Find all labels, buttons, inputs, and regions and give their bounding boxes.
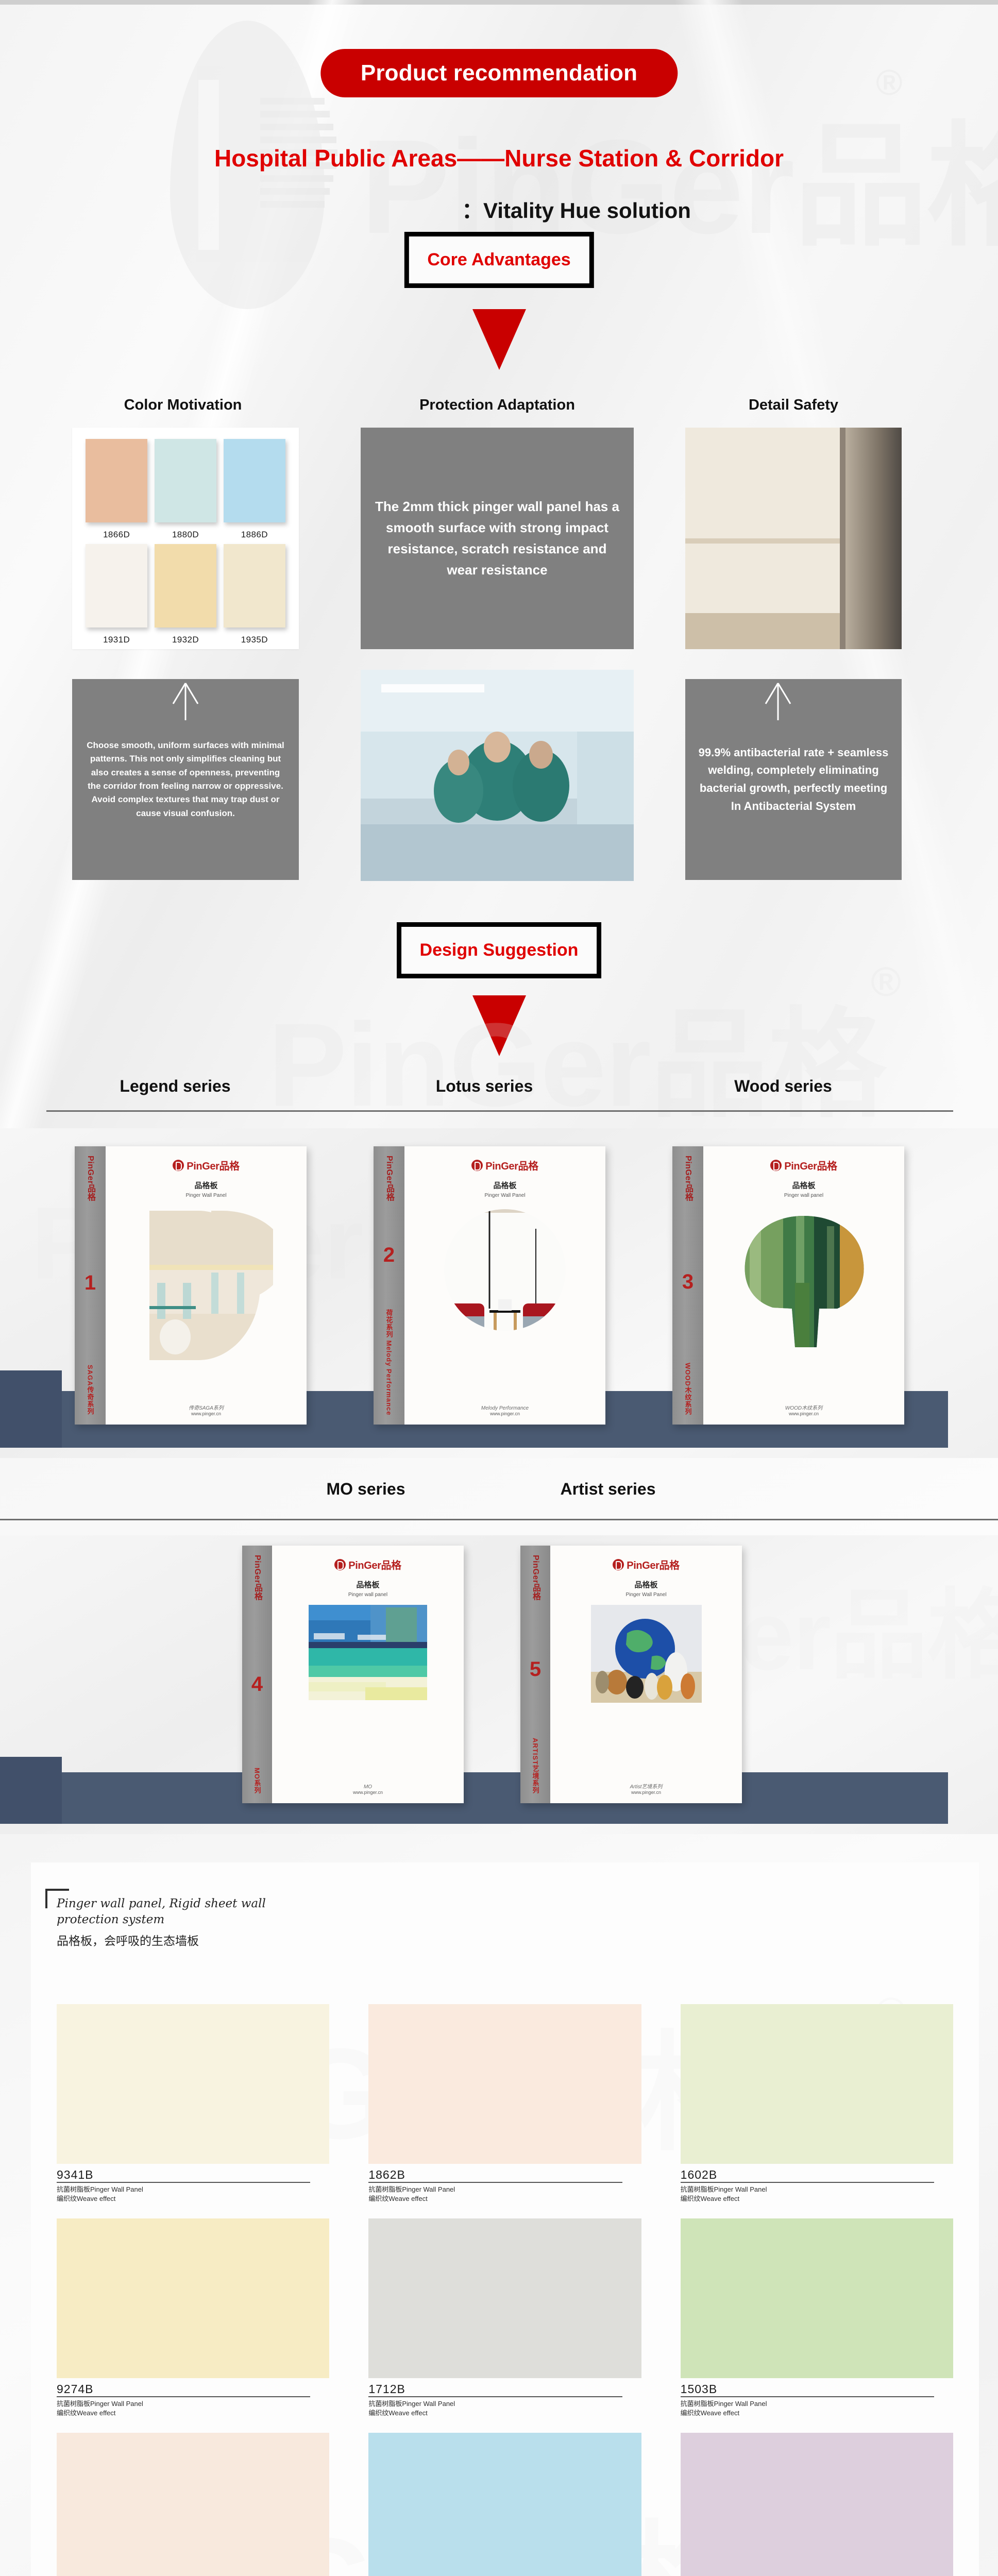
product-desc-line-2: 编织纹Weave effect — [368, 2409, 641, 2418]
spine-number: 3 — [682, 1272, 693, 1292]
spine-series-label: SAGA传奇系列 — [86, 1365, 95, 1415]
product-cell[interactable]: 1880B 抗菌树脂板Pinger Wall Panel 编织纹Weave ef… — [368, 2433, 641, 2576]
brand-name: PinGer品格 — [627, 1557, 679, 1572]
shelf-plate — [41, 1772, 948, 1824]
product-description: 抗菌树脂板Pinger Wall Panel 编织纹Weave effect — [368, 2183, 641, 2203]
spine-number: 2 — [383, 1245, 395, 1265]
page-title: Hospital Public Areas——Nurse Station & C… — [0, 144, 998, 172]
cover-footer-series: Artist艺境系列 — [550, 1782, 742, 1790]
spine-number: 4 — [251, 1674, 263, 1694]
cover-footer-url: www.pinger.cn — [404, 1411, 605, 1416]
cover-footer-url: www.pinger.cn — [272, 1790, 464, 1795]
color-swatch-item: 1866D — [86, 439, 147, 540]
spine-number: 5 — [530, 1659, 541, 1680]
swatch-code: 1866D — [86, 530, 147, 540]
arrow-up-icon — [170, 680, 201, 721]
product-swatch — [368, 2004, 641, 2164]
cover-title-cn: 品格板 — [792, 1180, 815, 1191]
product-code: 1712B — [368, 2378, 641, 2396]
swatch-chip — [86, 439, 147, 522]
product-description: 抗菌树脂板Pinger Wall Panel 编织纹Weave effect — [57, 2397, 329, 2417]
swatch-chip — [86, 544, 147, 628]
product-code: 1602B — [681, 2164, 953, 2182]
spine-number: 1 — [84, 1273, 96, 1293]
cover-footer-series: Melody Performance — [404, 1405, 605, 1411]
product-catalogue-section: PinGer品格 ® PinGer品格 Pinger wall panel, R… — [0, 1834, 998, 2576]
spine-brand-label: PinGer品格 — [84, 1156, 96, 1201]
series-heading-wood: Wood series — [680, 1077, 886, 1096]
color-swatch-grid: 1866D 1880D 1886D 1931D 1932D — [72, 428, 299, 660]
color-swatch-item: 1931D — [86, 544, 147, 645]
cover-artwork — [734, 1206, 873, 1352]
book-cover: PinGer品格 品格板 Pinger Wall Panel — [106, 1146, 307, 1425]
swatch-chip — [224, 439, 285, 522]
color-swatch-card: 1866D 1880D 1886D 1931D 1932D — [72, 428, 299, 649]
product-swatch — [57, 2004, 329, 2164]
book-spine: PinGer品格 4 MO系列 — [242, 1546, 272, 1803]
catalogue-title-cn: 品格板，会呼吸的生态墙板 — [57, 1931, 266, 1948]
cover-artwork — [139, 1206, 273, 1363]
design-suggestion-label: Design Suggestion — [420, 940, 579, 960]
spine-brand-label: PinGer品格 — [383, 1156, 395, 1201]
swatch-code: 1886D — [224, 530, 285, 540]
cover-title-cn: 品格板 — [634, 1579, 657, 1590]
product-desc-line-2: 编织纹Weave effect — [57, 2409, 329, 2418]
catalog-shelf-2: PinGer品格 PinGer品格 4 MO系列 PinGer品格 品格板 Pi… — [0, 1535, 998, 1834]
swatch-code: 1932D — [155, 635, 216, 645]
book-spine: PinGer品格 2 荷花系列 Melody Performance — [374, 1146, 404, 1425]
color-swatch-item: 1932D — [155, 544, 216, 645]
color-swatch-item: 1935D — [224, 544, 285, 645]
brand-name: PinGer品格 — [348, 1557, 401, 1572]
product-swatch — [368, 2433, 641, 2576]
series-heading-legend: Legend series — [72, 1077, 278, 1096]
product-cell[interactable]: 9274B 抗菌树脂板Pinger Wall Panel 编织纹Weave ef… — [57, 2218, 329, 2417]
swatch-chip — [224, 544, 285, 628]
brand-name: PinGer品格 — [784, 1158, 837, 1173]
pinger-logo-icon — [471, 1160, 483, 1171]
product-grid: 9341B 抗菌树脂板Pinger Wall Panel 编织纹Weave ef… — [57, 2004, 953, 2576]
product-swatch — [681, 2004, 953, 2164]
catalog-book-1[interactable]: PinGer品格 1 SAGA传奇系列 PinGer品格 品格板 Pinger … — [75, 1146, 307, 1425]
book-spine: PinGer品格 3 WOOD木纹系列 — [672, 1146, 703, 1425]
page-subtitle: ：Vitality Hue solution — [0, 193, 998, 225]
book-cover: PinGer品格 品格板 Pinger wall panel — [703, 1146, 904, 1425]
pinger-logo-icon — [334, 1559, 346, 1570]
product-recommendation-page: PinGer品格 ® Product recommendation Hospit… — [0, 0, 998, 2576]
brand-logo: PinGer品格 — [173, 1158, 239, 1173]
book-cover: PinGer品格 品格板 Pinger wall panel — [272, 1546, 464, 1803]
corner-bracket-icon — [45, 1889, 69, 1908]
product-desc-line-2: 编织纹Weave effect — [368, 2194, 641, 2204]
cover-footer: WOOD木纹系列 www.pinger.cn — [703, 1403, 904, 1416]
cover-footer-series: WOOD木纹系列 — [703, 1403, 904, 1411]
divider — [0, 1519, 998, 1520]
product-swatch — [57, 2433, 329, 2576]
product-desc-line-1: 抗菌树脂板Pinger Wall Panel — [57, 2399, 329, 2409]
protection-adaptation-text: The 2mm thick pinger wall panel has a sm… — [372, 496, 622, 581]
core-advantages-label: Core Advantages — [427, 250, 570, 269]
arrow-down-icon — [472, 309, 526, 370]
swatch-code: 1935D — [224, 635, 285, 645]
catalog-book-3[interactable]: PinGer品格 3 WOOD木纹系列 PinGer品格 品格板 Pinger … — [672, 1146, 904, 1425]
protection-adaptation-text-box: The 2mm thick pinger wall panel has a sm… — [361, 428, 634, 649]
product-cell[interactable]: 1503B 抗菌树脂板Pinger Wall Panel 编织纹Weave ef… — [681, 2218, 953, 2417]
design-suggestion-box: Design Suggestion — [397, 922, 602, 978]
product-cell[interactable]: 9677B 抗菌树脂板Pinger Wall Panel 编织纹Weave ef… — [681, 2433, 953, 2576]
product-code: 9274B — [57, 2378, 329, 2396]
product-recommendation-badge: Product recommendation — [320, 49, 678, 97]
book-spine: PinGer品格 5 ARTIST艺境系列 — [520, 1546, 550, 1803]
cover-artwork — [309, 1605, 427, 1703]
cover-footer-url: www.pinger.cn — [550, 1790, 742, 1795]
cover-footer-url: www.pinger.cn — [106, 1411, 307, 1416]
corridor-photo — [685, 428, 902, 649]
product-desc-line-2: 编织纹Weave effect — [681, 2194, 953, 2204]
product-desc-line-1: 抗菌树脂板Pinger Wall Panel — [57, 2185, 329, 2194]
product-cell[interactable]: 1602B 抗菌树脂板Pinger Wall Panel 编织纹Weave ef… — [681, 2004, 953, 2203]
cover-title-en: Pinger Wall Panel — [185, 1193, 226, 1198]
product-code: 1862B — [368, 2164, 641, 2182]
divider — [46, 1110, 953, 1112]
series-heading-row-2: MO series Artist series — [0, 1458, 998, 1535]
product-description: 抗菌树脂板Pinger Wall Panel 编织纹Weave effect — [57, 2183, 329, 2203]
cover-artwork — [441, 1206, 569, 1337]
product-cell[interactable]: 1862B 抗菌树脂板Pinger Wall Panel 编织纹Weave ef… — [368, 2004, 641, 2203]
product-swatch — [681, 2218, 953, 2378]
product-desc-line-1: 抗菌树脂板Pinger Wall Panel — [681, 2185, 953, 2194]
swatch-chip — [155, 544, 216, 628]
brand-name: PinGer品格 — [485, 1158, 538, 1173]
shelf-plate-left — [0, 1370, 62, 1448]
cover-title-cn: 品格板 — [356, 1579, 379, 1590]
cover-title-cn: 品格板 — [493, 1180, 516, 1191]
product-swatch — [368, 2218, 641, 2378]
cover-footer: Melody Performance www.pinger.cn — [404, 1405, 605, 1416]
color-swatch-item: 1880D — [155, 439, 216, 540]
cover-title-en: Pinger wall panel — [784, 1193, 823, 1198]
column-heading-protection-adaptation: Protection Adaptation — [361, 397, 634, 414]
product-desc-line-1: 抗菌树脂板Pinger Wall Panel — [368, 2399, 641, 2409]
spine-brand-label: PinGer品格 — [682, 1156, 694, 1201]
spine-brand-label: PinGer品格 — [251, 1555, 263, 1600]
book-cover: PinGer品格 品格板 Pinger Wall Panel — [550, 1546, 742, 1803]
product-desc-line-2: 编织纹Weave effect — [57, 2194, 329, 2204]
catalog-book-2[interactable]: PinGer品格 2 荷花系列 Melody Performance PinGe… — [374, 1146, 605, 1425]
arrow-down-icon — [472, 995, 526, 1056]
catalog-book-4[interactable]: PinGer品格 4 MO系列 PinGer品格 品格板 Pinger wall… — [242, 1546, 464, 1803]
cover-title-en: Pinger Wall Panel — [625, 1592, 666, 1598]
swatch-chip — [155, 439, 216, 522]
cover-footer: MO www.pinger.cn — [272, 1784, 464, 1795]
spine-series-label: MO系列 — [252, 1768, 262, 1794]
brand-logo: PinGer品格 — [613, 1557, 679, 1572]
catalog-shelf-1: PinGer品格 PinGer品格 1 SAGA传奇系列 PinGer品格 品格… — [0, 1128, 998, 1458]
brand-logo: PinGer品格 — [471, 1158, 538, 1173]
shelf-plate-left — [0, 1757, 62, 1824]
product-code: 9341B — [57, 2164, 329, 2182]
product-cell[interactable]: 1712B 抗菌树脂板Pinger Wall Panel 编织纹Weave ef… — [368, 2218, 641, 2417]
cover-footer-series: 传奇SAGA系列 — [106, 1403, 307, 1411]
color-swatch-item: 1886D — [224, 439, 285, 540]
brand-logo: PinGer品格 — [334, 1557, 401, 1572]
product-desc-line-1: 抗菌树脂板Pinger Wall Panel — [681, 2399, 953, 2409]
pinger-logo-icon — [770, 1160, 782, 1171]
cover-title-cn: 品格板 — [194, 1180, 217, 1191]
cover-footer: 传奇SAGA系列 www.pinger.cn — [106, 1403, 307, 1416]
pinger-logo-icon — [613, 1559, 624, 1570]
cover-footer-url: www.pinger.cn — [703, 1411, 904, 1416]
spine-series-label: 荷花系列 Melody Performance — [384, 1309, 394, 1416]
product-desc-line-2: 编织纹Weave effect — [681, 2409, 953, 2418]
column-heading-detail-safety: Detail Safety — [685, 397, 902, 414]
series-heading-mo: MO series — [273, 1480, 459, 1499]
cover-footer-series: MO — [272, 1784, 464, 1790]
cover-title-en: Pinger wall panel — [348, 1592, 387, 1598]
detail-safety-text-box: 99.9% antibacterial rate + seamless weld… — [685, 679, 902, 880]
catalog-book-5[interactable]: PinGer品格 5 ARTIST艺境系列 PinGer品格 品格板 Pinge… — [520, 1546, 742, 1803]
arrow-up-icon — [763, 680, 793, 721]
product-swatch — [681, 2433, 953, 2576]
detail-safety-text: 99.9% antibacterial rate + seamless weld… — [697, 744, 890, 816]
book-cover: PinGer品格 品格板 Pinger Wall Panel — [404, 1146, 605, 1425]
catalogue-title-block: Pinger wall panel, Rigid sheet wall prot… — [57, 1896, 266, 1948]
spine-series-label: ARTIST艺境系列 — [531, 1738, 540, 1794]
series-heading-artist: Artist series — [505, 1480, 711, 1499]
core-advantages-box: Core Advantages — [404, 232, 594, 288]
cover-title-en: Pinger Wall Panel — [484, 1193, 525, 1198]
product-cell[interactable]: 9341B 抗菌树脂板Pinger Wall Panel 编织纹Weave ef… — [57, 2004, 329, 2203]
column-heading-color-motivation: Color Motivation — [67, 397, 299, 414]
swatch-code: 1931D — [86, 635, 147, 645]
color-motivation-text: Choose smooth, uniform surfaces with min… — [83, 739, 287, 820]
nurse-station-photo — [361, 670, 634, 881]
product-code: 1503B — [681, 2378, 953, 2396]
swatch-code: 1880D — [155, 530, 216, 540]
spine-series-label: WOOD木纹系列 — [683, 1363, 693, 1415]
product-description: 抗菌树脂板Pinger Wall Panel 编织纹Weave effect — [681, 2397, 953, 2417]
product-description: 抗菌树脂板Pinger Wall Panel 编织纹Weave effect — [368, 2397, 641, 2417]
product-description: 抗菌树脂板Pinger Wall Panel 编织纹Weave effect — [681, 2183, 953, 2203]
product-cell[interactable]: 1501B 抗菌树脂板Pinger Wall Panel 编织纹Weave ef… — [57, 2433, 329, 2576]
series-heading-lotus: Lotus series — [381, 1077, 587, 1096]
brand-name: PinGer品格 — [187, 1158, 239, 1173]
spine-brand-label: PinGer品格 — [529, 1555, 542, 1600]
cover-artwork — [591, 1605, 702, 1705]
cover-footer: Artist艺境系列 www.pinger.cn — [550, 1782, 742, 1795]
catalogue-title-en: Pinger wall panel, Rigid sheet wall prot… — [57, 1896, 266, 1928]
product-desc-line-1: 抗菌树脂板Pinger Wall Panel — [368, 2185, 641, 2194]
product-swatch — [57, 2218, 329, 2378]
brand-logo: PinGer品格 — [770, 1158, 837, 1173]
hero-section: PinGer品格 ® Product recommendation Hospit… — [0, 0, 998, 1128]
pinger-logo-icon — [173, 1160, 184, 1171]
book-spine: PinGer品格 1 SAGA传奇系列 — [75, 1146, 106, 1425]
